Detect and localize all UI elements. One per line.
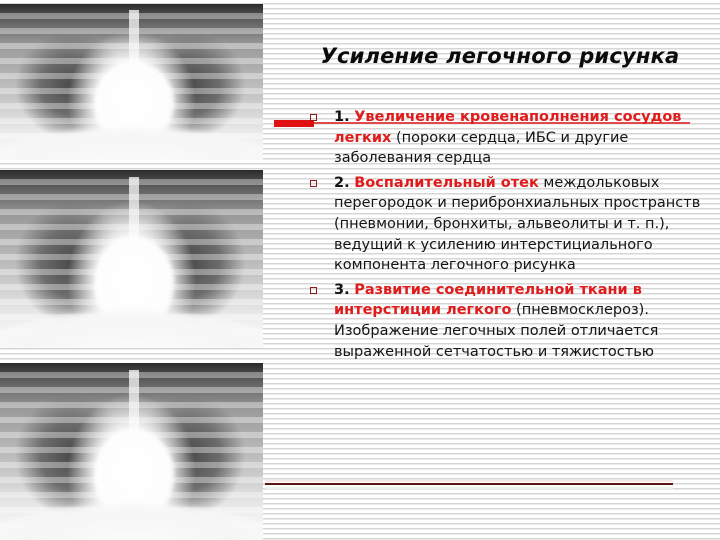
square-bullet-icon [310, 180, 317, 187]
accent-rule-bottom [265, 483, 673, 485]
square-bullet-icon [310, 287, 317, 294]
bullet-highlight-2: Воспалительный отек [354, 175, 539, 191]
accent-rule-bottom-ghost-bottom [265, 487, 673, 489]
slide-title: Усиление легочного рисунка [300, 44, 700, 68]
chest-xray-image-3 [0, 363, 263, 540]
bullet-text-2: 2. Воспалительный отек междольковых пере… [334, 175, 700, 273]
bullet-number-3: 3. [334, 282, 350, 298]
chest-xray-image-2 [0, 170, 263, 348]
list-item: 3. Развитие соединительной ткани в интер… [300, 279, 704, 361]
bullet-list: 1. Увеличение кровенаполнения сосудов ле… [300, 106, 704, 365]
list-item: 2. Воспалительный отек междольковых пере… [300, 172, 704, 275]
bullet-text-3: 3. Развитие соединительной ткани в интер… [334, 282, 658, 360]
bullet-number-2: 2. [334, 175, 350, 191]
xray-image-column [0, 0, 263, 540]
bullet-text-1: 1. Увеличение кровенаполнения сосудов ле… [334, 109, 681, 166]
accent-rule-bottom-ghost-top [265, 480, 673, 482]
list-item: 1. Увеличение кровенаполнения сосудов ле… [300, 106, 704, 168]
square-bullet-icon [310, 114, 317, 121]
bullet-number-1: 1. [334, 109, 350, 125]
slide-canvas: Усиление легочного рисунка 1. Увеличение… [0, 0, 720, 540]
chest-xray-image-1 [0, 4, 263, 160]
